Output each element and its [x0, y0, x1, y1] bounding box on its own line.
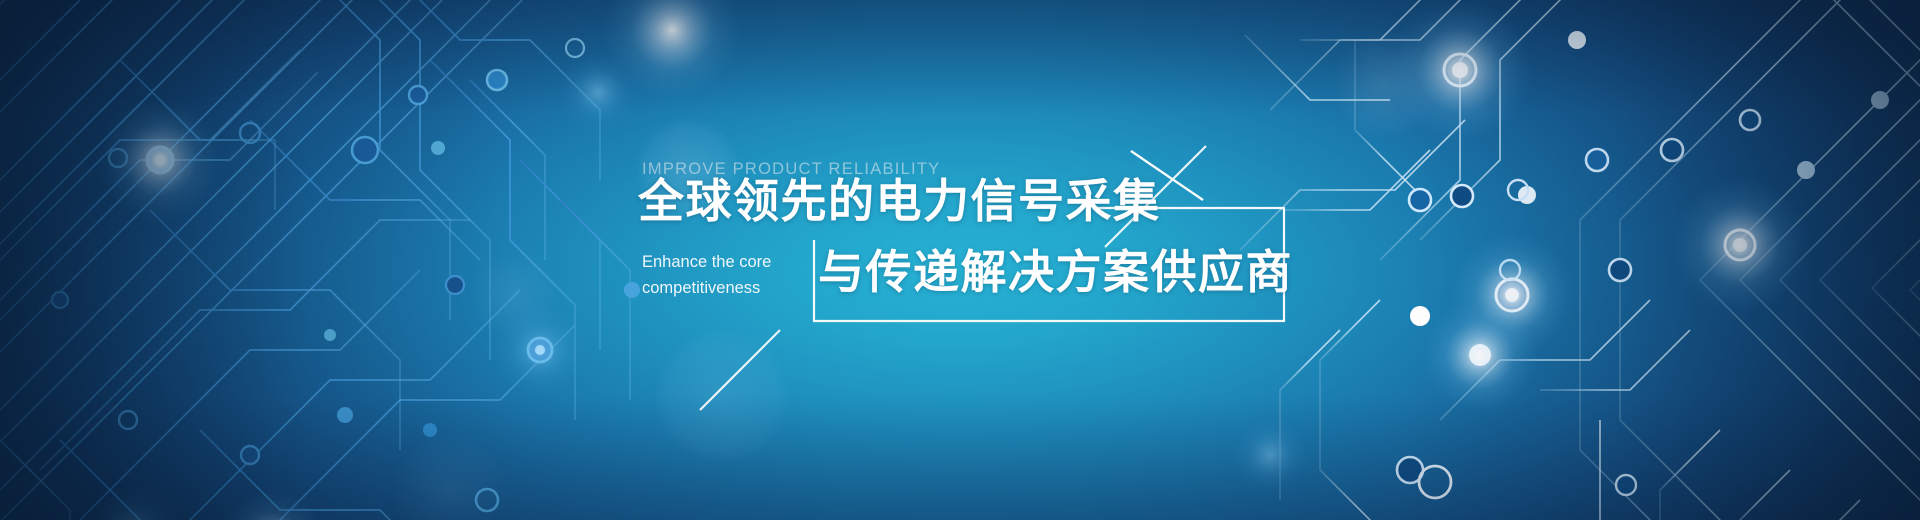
banner-subtitle-line1: Enhance the core	[642, 250, 802, 276]
banner-headline-line2: 与传递解决方案供应商	[818, 249, 1293, 295]
banner-subtitle-line2: competitiveness	[642, 276, 802, 302]
hero-banner: IMPROVE PRODUCT RELIABILITY 全球领先的电力信号采集 …	[0, 0, 1920, 520]
banner-subtitle: Enhance the core competitiveness	[642, 250, 802, 301]
banner-headline-line1: 全球领先的电力信号采集	[638, 178, 1161, 224]
banner-content: IMPROVE PRODUCT RELIABILITY 全球领先的电力信号采集 …	[0, 0, 1920, 520]
